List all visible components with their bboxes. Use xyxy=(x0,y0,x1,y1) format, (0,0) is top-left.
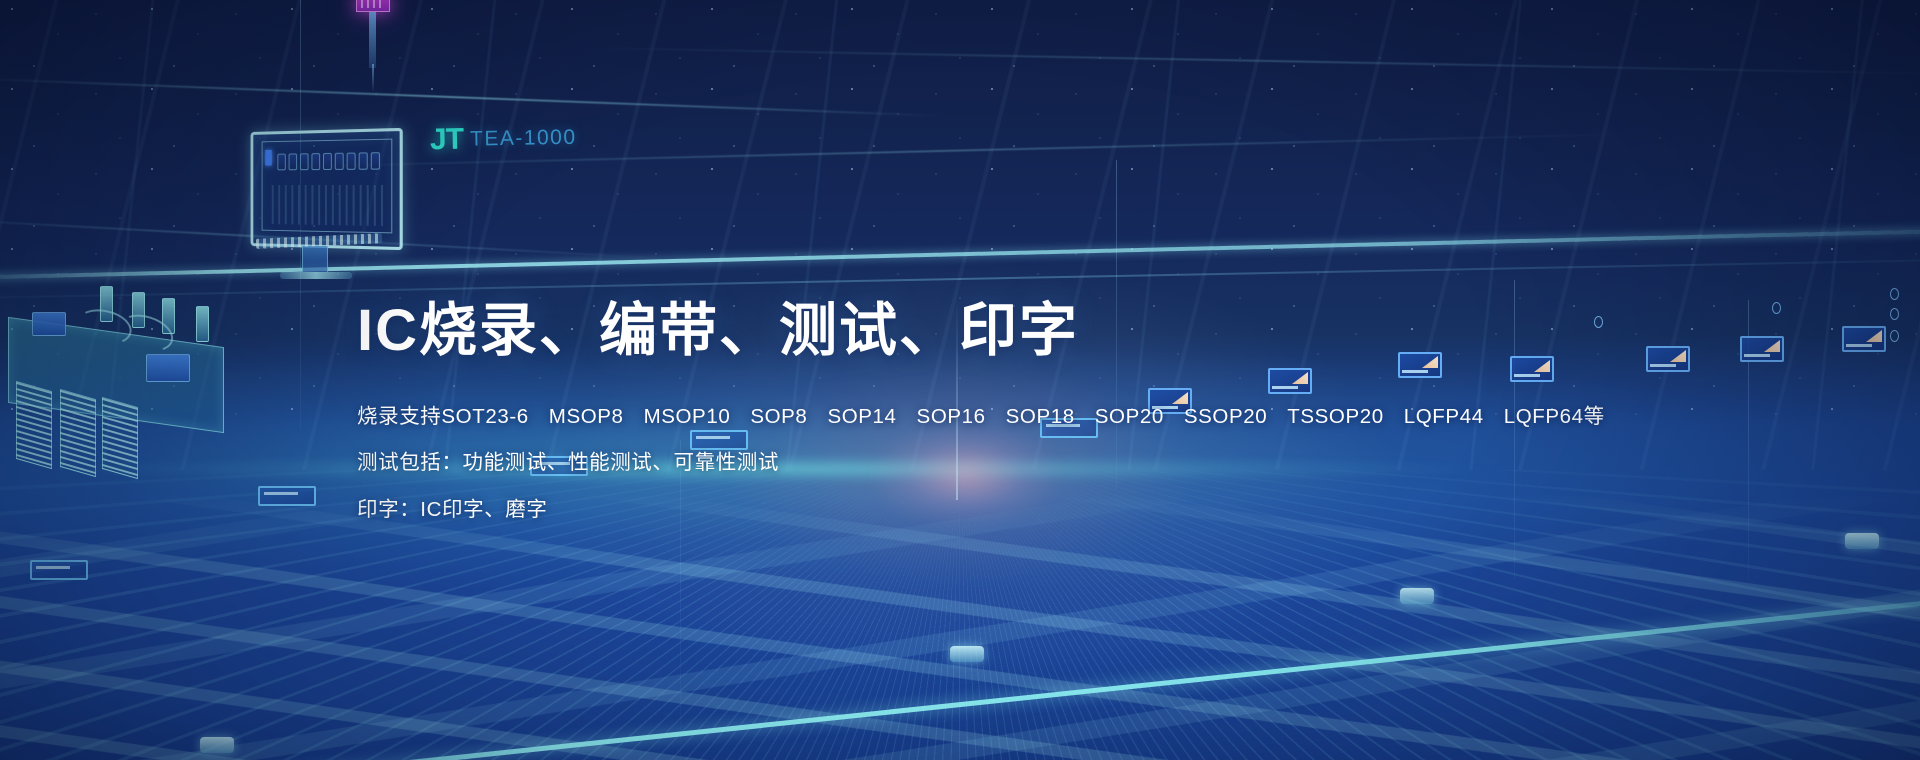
burn-support-lead-label: 烧录支持SOT23-6 xyxy=(357,407,529,428)
machine-rack-decoration xyxy=(16,381,52,469)
rail-node-icon xyxy=(1772,302,1781,314)
workstation-monitor-illustration xyxy=(246,130,402,248)
rail-support-foot-decoration xyxy=(950,646,984,662)
machine-control-box-decoration xyxy=(146,354,190,382)
overhead-monitor-panel-icon xyxy=(1740,336,1784,362)
sign-pole-tip-decoration xyxy=(372,64,374,92)
equipment-brand-label: JT xyxy=(430,123,464,158)
package-tssop20: TSSOP20 xyxy=(1287,407,1384,428)
conveyor-tray-icon xyxy=(30,560,88,580)
package-sop14: SOP14 xyxy=(827,407,896,428)
equipment-logo: JT TEA-1000 xyxy=(430,121,577,158)
machine-rack-decoration xyxy=(102,397,138,479)
banner-copy-block: IC烧录、编带、测试、印字 烧录支持SOT23-6 MSOP8 MSOP10 S… xyxy=(357,300,1607,520)
screen-chip-row-decoration xyxy=(277,152,380,170)
sign-pole-decoration xyxy=(369,12,376,68)
package-ssop20: SSOP20 xyxy=(1184,407,1267,428)
package-sop18: SOP18 xyxy=(1006,407,1075,428)
overhead-monitor-panel-icon xyxy=(1646,346,1690,372)
rail-support-foot-decoration xyxy=(200,737,234,753)
monitor-stand-decoration xyxy=(302,246,328,272)
machine-control-box-decoration xyxy=(32,312,66,336)
ceiling-light-beam-decoration xyxy=(560,46,1920,75)
overhead-gantry-rail-secondary-decoration xyxy=(0,260,1920,299)
testing-line: 测试包括：功能测试、性能测试、可靠性测试 xyxy=(357,453,1607,474)
screen-highlight-decoration xyxy=(265,150,271,166)
package-lqfp44: LQFP44 xyxy=(1404,407,1484,428)
rail-node-icon xyxy=(1890,288,1899,300)
banner-title: IC烧录、编带、测试、印字 xyxy=(357,300,1607,363)
burn-in-machine-illustration xyxy=(0,268,270,468)
monitor-base-decoration xyxy=(280,272,352,279)
burn-support-line: 烧录支持SOT23-6 MSOP8 MSOP10 SOP8 SOP14 SOP1… xyxy=(357,407,1607,428)
overhead-monitor-panel-icon xyxy=(1842,326,1886,352)
package-sop8: SOP8 xyxy=(750,407,807,428)
rail-node-icon xyxy=(1890,330,1899,342)
hero-banner: JT TEA-1000 IC烧录、编带、测试、印字 烧录支持SOT23-6 MS… xyxy=(0,0,1920,760)
package-sop20: SOP20 xyxy=(1095,407,1164,428)
package-msop10: MSOP10 xyxy=(644,407,731,428)
monitor-screen-decoration xyxy=(262,139,393,234)
magenta-indicator-sign-icon xyxy=(356,0,390,12)
screen-data-rows-decoration xyxy=(272,185,383,226)
package-sop16: SOP16 xyxy=(917,407,986,428)
machine-cylinder-decoration xyxy=(196,306,209,342)
ceiling-light-beam-decoration xyxy=(0,77,940,117)
marking-line: 印字：IC印字、磨字 xyxy=(357,500,1607,521)
machine-rack-decoration xyxy=(60,389,96,477)
rail-node-icon xyxy=(1890,308,1899,320)
conveyor-tray-icon xyxy=(258,486,316,506)
package-lqfp64: LQFP64等 xyxy=(1504,407,1605,428)
banner-subtitle-list: 烧录支持SOT23-6 MSOP8 MSOP10 SOP8 SOP14 SOP1… xyxy=(357,407,1607,521)
hanging-sign-group xyxy=(350,0,396,92)
rail-support-foot-decoration xyxy=(1400,588,1434,604)
rail-support-foot-decoration xyxy=(1845,533,1879,549)
equipment-model-label: TEA-1000 xyxy=(470,126,577,152)
package-msop8: MSOP8 xyxy=(549,407,624,428)
